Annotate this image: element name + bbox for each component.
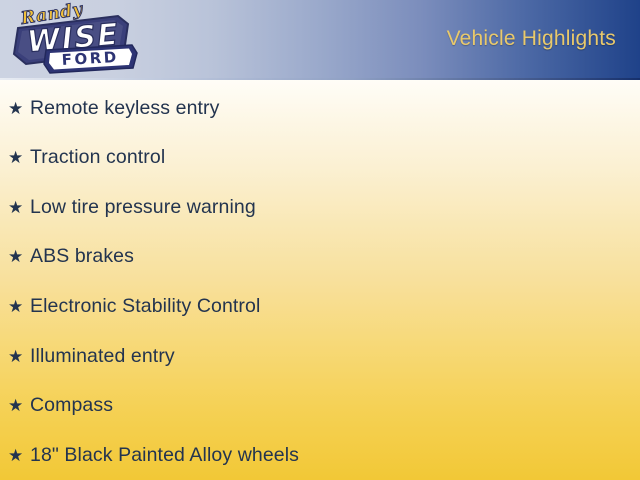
feature-label: 18" Black Painted Alloy wheels [30, 444, 299, 467]
star-bullet-icon: ★ [8, 149, 30, 166]
star-bullet-icon: ★ [8, 298, 30, 315]
star-bullet-icon: ★ [8, 248, 30, 265]
header-banner: WISE FORD Randy Vehicle Highlights [0, 0, 640, 80]
star-bullet-icon: ★ [8, 447, 30, 464]
list-item: ★Illuminated entry [8, 341, 175, 371]
vehicle-highlights-slide: WISE FORD Randy Vehicle Highlights ★Remo… [0, 0, 640, 480]
page-title: Vehicle Highlights [447, 27, 616, 51]
star-bullet-icon: ★ [8, 397, 30, 414]
features-panel: ★Remote keyless entry★Traction control★L… [0, 80, 640, 480]
feature-label: Compass [30, 394, 113, 417]
dealer-logo[interactable]: WISE FORD Randy [6, 2, 138, 78]
list-item: ★Compass [8, 391, 113, 421]
feature-label: Low tire pressure warning [30, 196, 256, 219]
list-item: ★Remote keyless entry [8, 93, 220, 123]
feature-label: Illuminated entry [30, 345, 175, 368]
star-bullet-icon: ★ [8, 199, 30, 216]
logo-ford-text: FORD [61, 48, 119, 69]
list-item: ★ABS brakes [8, 242, 134, 272]
feature-label: Electronic Stability Control [30, 295, 260, 318]
star-bullet-icon: ★ [8, 100, 30, 117]
star-bullet-icon: ★ [8, 348, 30, 365]
list-item: ★Electronic Stability Control [8, 291, 260, 321]
feature-label: Remote keyless entry [30, 97, 220, 120]
list-item: ★18" Black Painted Alloy wheels [8, 440, 299, 470]
list-item: ★Low tire pressure warning [8, 192, 256, 222]
list-item: ★Traction control [8, 143, 165, 173]
feature-label: Traction control [30, 146, 165, 169]
feature-label: ABS brakes [30, 245, 134, 268]
